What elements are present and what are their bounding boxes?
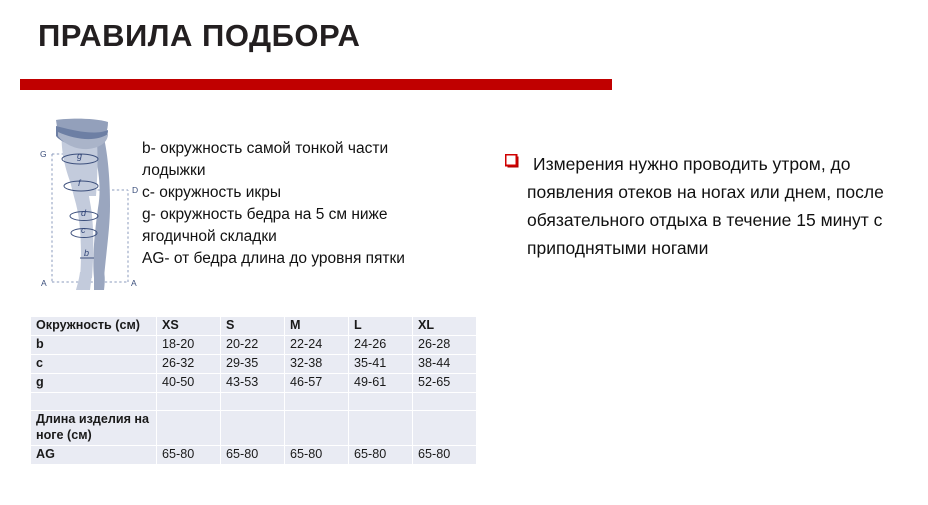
label-ankle: b	[84, 248, 89, 258]
cell-xl: 26-28	[413, 336, 477, 355]
measurement-key: b- окружность самой тонкой части лодыжки…	[142, 138, 442, 270]
table-header-m: M	[285, 317, 349, 336]
slide-root: ПРАВИЛА ПОДБОРА	[0, 0, 928, 505]
cell-xl: 38-44	[413, 355, 477, 374]
spacer-cell	[157, 393, 221, 411]
table-header-s: S	[221, 317, 285, 336]
spacer-cell	[413, 393, 477, 411]
table-row: AG 65-80 65-80 65-80 65-80 65-80	[31, 446, 476, 465]
measure-key-line-ag: AG- от бедра длина до уровня пятки	[142, 248, 442, 270]
section-cell	[157, 411, 221, 446]
cell-xs: 26-32	[157, 355, 221, 374]
cell-m: 46-57	[285, 374, 349, 393]
cell-s: 43-53	[221, 374, 285, 393]
red-square-bullet-icon	[505, 154, 519, 168]
cell-xs: 40-50	[157, 374, 221, 393]
row-label: AG	[31, 446, 157, 465]
table-header-row: Окружность (см) XS S M L XL	[31, 317, 476, 336]
cell-s: 29-35	[221, 355, 285, 374]
cell-m: 65-80	[285, 446, 349, 465]
cell-l: 65-80	[349, 446, 413, 465]
table-spacer-row	[31, 393, 476, 411]
table-row: c 26-32 29-35 32-38 35-41 38-44	[31, 355, 476, 374]
measure-key-line-g: g- окружность бедра на 5 см ниже ягодичн…	[142, 204, 442, 248]
section-cell	[285, 411, 349, 446]
table-header-measure: Окружность (см)	[31, 317, 157, 336]
page-title: ПРАВИЛА ПОДБОРА	[38, 18, 360, 54]
leg-measurement-diagram: g f d c b G D A A	[36, 112, 146, 294]
cell-s: 65-80	[221, 446, 285, 465]
row-label: c	[31, 355, 157, 374]
spacer-cell	[31, 393, 157, 411]
section-label: Длина изделия на ноге (см)	[31, 411, 157, 446]
title-accent-rule	[20, 79, 612, 90]
spacer-cell	[285, 393, 349, 411]
section-cell	[221, 411, 285, 446]
section-cell	[349, 411, 413, 446]
row-label: b	[31, 336, 157, 355]
table-row: b 18-20 20-22 22-24 24-26 26-28	[31, 336, 476, 355]
table-row: g 40-50 43-53 46-57 49-61 52-65	[31, 374, 476, 393]
cell-xl: 65-80	[413, 446, 477, 465]
cell-l: 35-41	[349, 355, 413, 374]
section-cell	[413, 411, 477, 446]
spacer-cell	[221, 393, 285, 411]
size-table: Окружность (см) XS S M L XL b 18-20 20-2…	[31, 317, 476, 465]
corner-label-A-right: A	[131, 278, 137, 288]
advice-block: Измерения нужно проводить утром, до появ…	[505, 150, 905, 262]
corner-label-D: D	[132, 185, 138, 195]
cell-m: 22-24	[285, 336, 349, 355]
corner-label-A-left: A	[41, 278, 47, 288]
cell-s: 20-22	[221, 336, 285, 355]
cell-xs: 18-20	[157, 336, 221, 355]
cell-m: 32-38	[285, 355, 349, 374]
cell-xl: 52-65	[413, 374, 477, 393]
row-label: g	[31, 374, 157, 393]
label-thigh-upper: g	[77, 151, 82, 161]
measure-key-line-c: c- окружность икры	[142, 182, 442, 204]
table-header-l: L	[349, 317, 413, 336]
table-header-xs: XS	[157, 317, 221, 336]
advice-text: Измерения нужно проводить утром, до появ…	[527, 150, 905, 262]
cell-l: 24-26	[349, 336, 413, 355]
corner-label-G: G	[40, 149, 47, 159]
spacer-cell	[349, 393, 413, 411]
table-section-row: Длина изделия на ноге (см)	[31, 411, 476, 446]
cell-xs: 65-80	[157, 446, 221, 465]
label-calf: c	[81, 225, 86, 235]
table-header-xl: XL	[413, 317, 477, 336]
cell-l: 49-61	[349, 374, 413, 393]
measure-key-line-b: b- окружность самой тонкой части лодыжки	[142, 138, 442, 182]
